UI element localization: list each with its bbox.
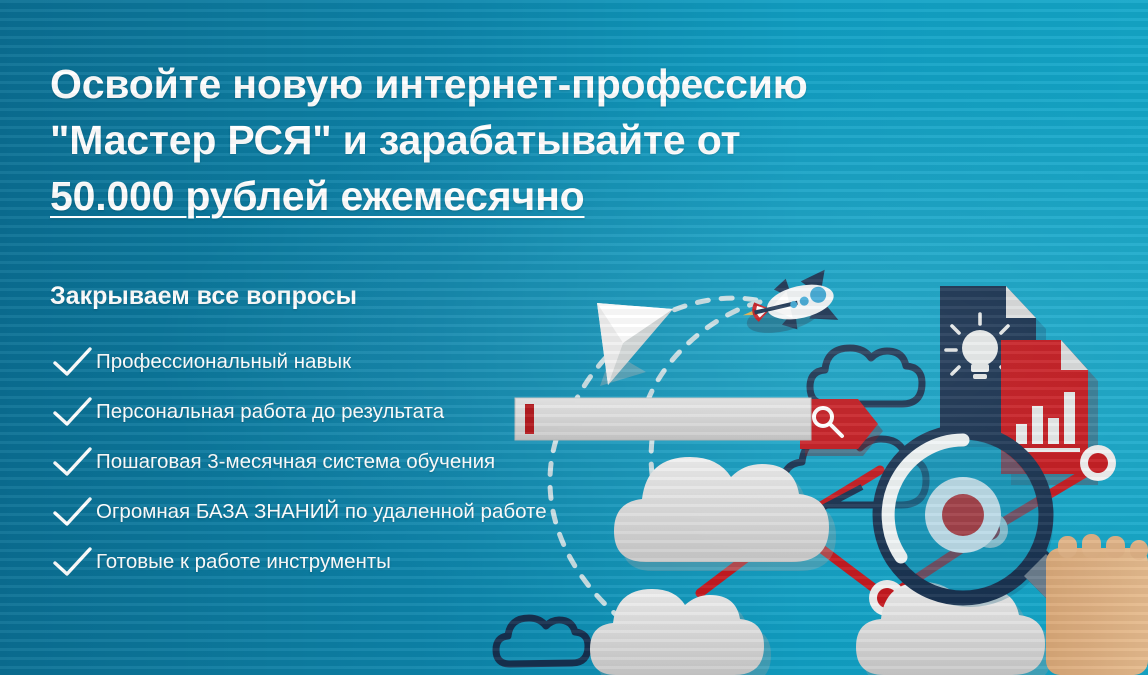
cloud-icon-outline-1 <box>810 348 922 404</box>
check-icon <box>50 395 96 429</box>
list-item: Готовые к работе инструменты <box>50 537 808 587</box>
subheading: Закрываем все вопросы <box>50 282 808 311</box>
headline-line-3: 50.000 рублей ежемесячно <box>50 168 808 224</box>
copy-block: Освойте новую интернет-профессию "Мастер… <box>50 56 808 587</box>
feature-label: Профессиональный навык <box>96 350 351 374</box>
feature-label: Готовые к работе инструменты <box>96 550 391 574</box>
promo-banner: Освойте новую интернет-профессию "Мастер… <box>0 0 1148 675</box>
list-item: Огромная БАЗА ЗНАНИЙ по удаленной работе <box>50 487 808 537</box>
search-button[interactable] <box>800 399 883 456</box>
check-icon <box>50 445 96 479</box>
list-item: Пошаговая 3-месячная система обучения <box>50 437 808 487</box>
feature-label: Персональная работа до результата <box>96 400 444 424</box>
feature-label: Пошаговая 3-месячная система обучения <box>96 450 495 474</box>
check-icon <box>50 345 96 379</box>
feature-list: Профессиональный навык Персональная рабо… <box>50 337 808 587</box>
headline-line-1: Освойте новую интернет-профессию <box>50 56 808 112</box>
headline-line-2: "Мастер РСЯ" и зарабатывайте от <box>50 112 808 168</box>
list-item: Профессиональный навык <box>50 337 808 387</box>
feature-label: Огромная БАЗА ЗНАНИЙ по удаленной работе <box>96 500 547 524</box>
check-icon <box>50 545 96 579</box>
check-icon <box>50 495 96 529</box>
list-item: Персональная работа до результата <box>50 387 808 437</box>
cloud-icon-2 <box>590 589 771 675</box>
page-title: Освойте новую интернет-профессию "Мастер… <box>50 56 808 224</box>
hand-icon <box>1046 534 1148 675</box>
cloud-icon-outline-3 <box>496 618 588 664</box>
